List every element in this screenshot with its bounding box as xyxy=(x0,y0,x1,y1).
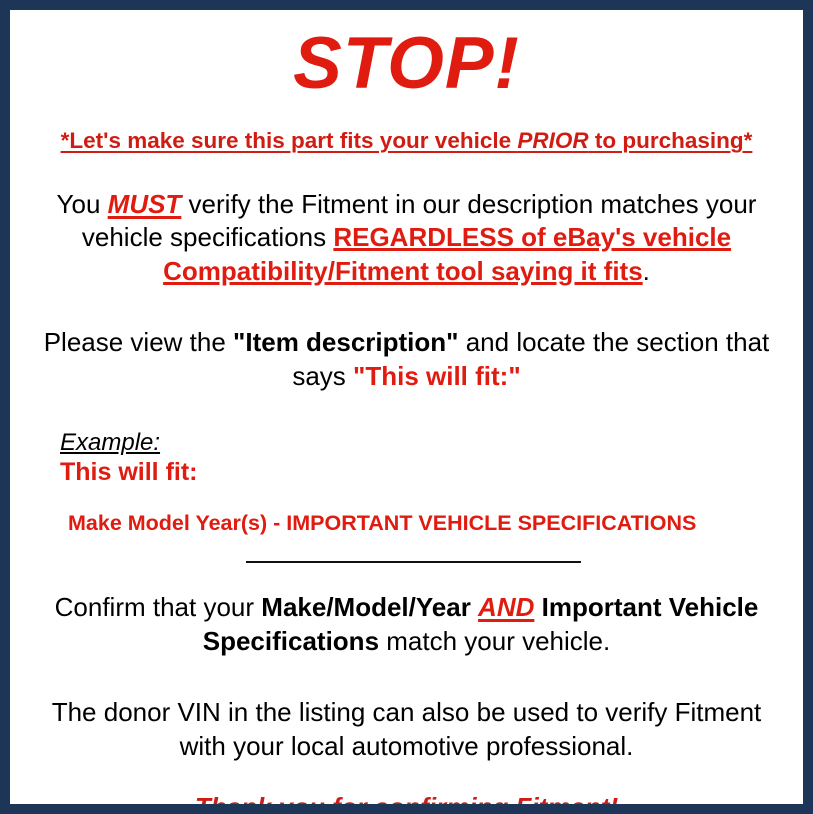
p2-item-description-label: "Item description" xyxy=(233,327,458,357)
paragraph-item-description: Please view the "Item description" and l… xyxy=(24,326,789,393)
p1-segment-5: . xyxy=(643,256,650,286)
example-fit-header: This will fit: xyxy=(60,458,789,487)
subtitle-text-before: *Let's make sure this part fits your veh… xyxy=(61,128,518,153)
closing-thank-you: Thank you for confirming Fitment! xyxy=(24,792,789,814)
p1-segment-1: You xyxy=(57,189,108,219)
p3-emphasis-and: AND xyxy=(478,592,534,622)
notice-content: STOP! *Let's make sure this part fits yo… xyxy=(10,27,803,814)
p3-segment-5: match your vehicle. xyxy=(379,626,610,656)
p2-segment-1: Please view the xyxy=(44,327,233,357)
p3-make-model-year: Make/Model/Year xyxy=(261,592,478,622)
p3-segment-1: Confirm that your xyxy=(55,592,262,622)
p2-this-will-fit-label: "This will fit:" xyxy=(353,361,521,391)
example-spec-line: Make Model Year(s) - IMPORTANT VEHICLE S… xyxy=(60,512,789,536)
example-block: Example: This will fit: Make Model Year(… xyxy=(24,430,789,536)
p1-emphasis-must: MUST xyxy=(108,189,182,219)
subtitle-emphasis-prior: PRIOR xyxy=(517,128,588,153)
subtitle-text-after: to purchasing* xyxy=(589,128,753,153)
paragraph-verify-fitment: You MUST verify the Fitment in our descr… xyxy=(24,188,789,289)
divider-wrapper xyxy=(24,561,789,563)
example-label-row: Example: xyxy=(60,430,789,456)
page-title: STOP! xyxy=(24,27,789,100)
subtitle-banner: *Let's make sure this part fits your veh… xyxy=(24,128,789,154)
paragraph-donor-vin: The donor VIN in the listing can also be… xyxy=(24,696,789,763)
paragraph-confirm-match: Confirm that your Make/Model/Year AND Im… xyxy=(24,591,789,658)
fitment-notice-frame: STOP! *Let's make sure this part fits yo… xyxy=(0,0,813,814)
section-divider xyxy=(246,561,581,563)
example-label: Example: xyxy=(60,430,160,456)
